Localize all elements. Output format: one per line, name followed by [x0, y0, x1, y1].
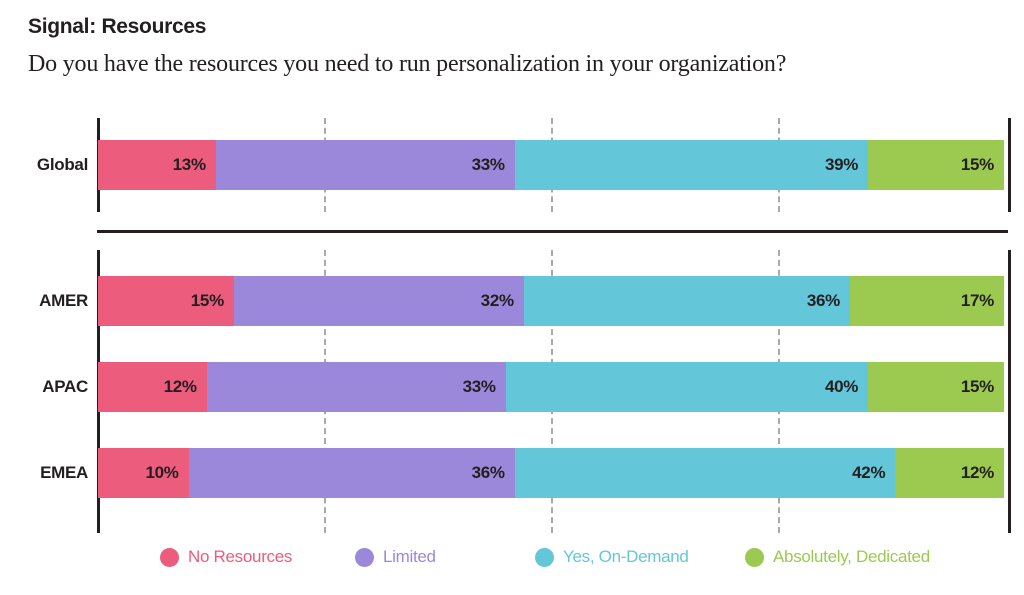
row-label-apac: APAC — [0, 362, 88, 412]
bar-segment-global-yes-on-demand[interactable]: 39% — [515, 140, 868, 190]
bar-row-amer: AMER15%32%36%17% — [0, 276, 1024, 326]
bar-segment-emea-limited[interactable]: 36% — [189, 448, 515, 498]
legend-label: Yes, On-Demand — [563, 547, 689, 567]
chart-legend: No ResourcesLimitedYes, On-DemandAbsolut… — [0, 540, 1024, 580]
bar-row-global: Global13%33%39%15% — [0, 140, 1024, 190]
bar-segment-global-limited[interactable]: 33% — [216, 140, 515, 190]
bar-segment-apac-limited[interactable]: 33% — [207, 362, 506, 412]
legend-item-yes-on-demand[interactable]: Yes, On-Demand — [535, 540, 689, 574]
bar-row-apac: APAC12%33%40%15% — [0, 362, 1024, 412]
chart-header: Signal: Resources Do you have the resour… — [28, 14, 1008, 78]
legend-item-absolutely-dedicated[interactable]: Absolutely, Dedicated — [745, 540, 930, 574]
bar-segment-emea-no-resources[interactable]: 10% — [98, 448, 189, 498]
legend-label: Limited — [383, 547, 436, 567]
chart-panel-regions: AMER15%32%36%17%APAC12%33%40%15%EMEA10%3… — [0, 250, 1024, 533]
bar-segment-amer-yes-on-demand[interactable]: 36% — [524, 276, 850, 326]
chart-panel-global: Global13%33%39%15% — [0, 118, 1024, 212]
chart-subtitle: Do you have the resources you need to ru… — [28, 50, 1008, 78]
bar-segment-apac-no-resources[interactable]: 12% — [98, 362, 207, 412]
page-title: Signal: Resources — [28, 14, 1008, 40]
bar-segment-apac-yes-on-demand[interactable]: 40% — [506, 362, 868, 412]
bar-segment-amer-absolutely-dedicated[interactable]: 17% — [850, 276, 1004, 326]
row-label-global: Global — [0, 140, 88, 190]
legend-label: No Resources — [188, 547, 292, 567]
legend-swatch-circle-icon — [745, 548, 764, 567]
bar-row-emea: EMEA10%36%42%12% — [0, 448, 1024, 498]
stacked-bar-global: 13%33%39%15% — [98, 140, 1004, 190]
row-label-amer: AMER — [0, 276, 88, 326]
legend-label: Absolutely, Dedicated — [773, 547, 930, 567]
bar-segment-amer-limited[interactable]: 32% — [234, 276, 524, 326]
bar-segment-global-no-resources[interactable]: 13% — [98, 140, 216, 190]
group-separator — [97, 230, 1008, 233]
legend-swatch-circle-icon — [355, 548, 374, 567]
legend-item-limited[interactable]: Limited — [355, 540, 436, 574]
bar-segment-emea-absolutely-dedicated[interactable]: 12% — [895, 448, 1004, 498]
stacked-bar-emea: 10%36%42%12% — [98, 448, 1004, 498]
legend-swatch-circle-icon — [535, 548, 554, 567]
stacked-bar-apac: 12%33%40%15% — [98, 362, 1004, 412]
bar-segment-emea-yes-on-demand[interactable]: 42% — [515, 448, 896, 498]
legend-item-no-resources[interactable]: No Resources — [160, 540, 292, 574]
bar-segment-amer-no-resources[interactable]: 15% — [98, 276, 234, 326]
stacked-bar-amer: 15%32%36%17% — [98, 276, 1004, 326]
bar-segment-global-absolutely-dedicated[interactable]: 15% — [868, 140, 1004, 190]
row-label-emea: EMEA — [0, 448, 88, 498]
bar-segment-apac-absolutely-dedicated[interactable]: 15% — [868, 362, 1004, 412]
legend-swatch-circle-icon — [160, 548, 179, 567]
